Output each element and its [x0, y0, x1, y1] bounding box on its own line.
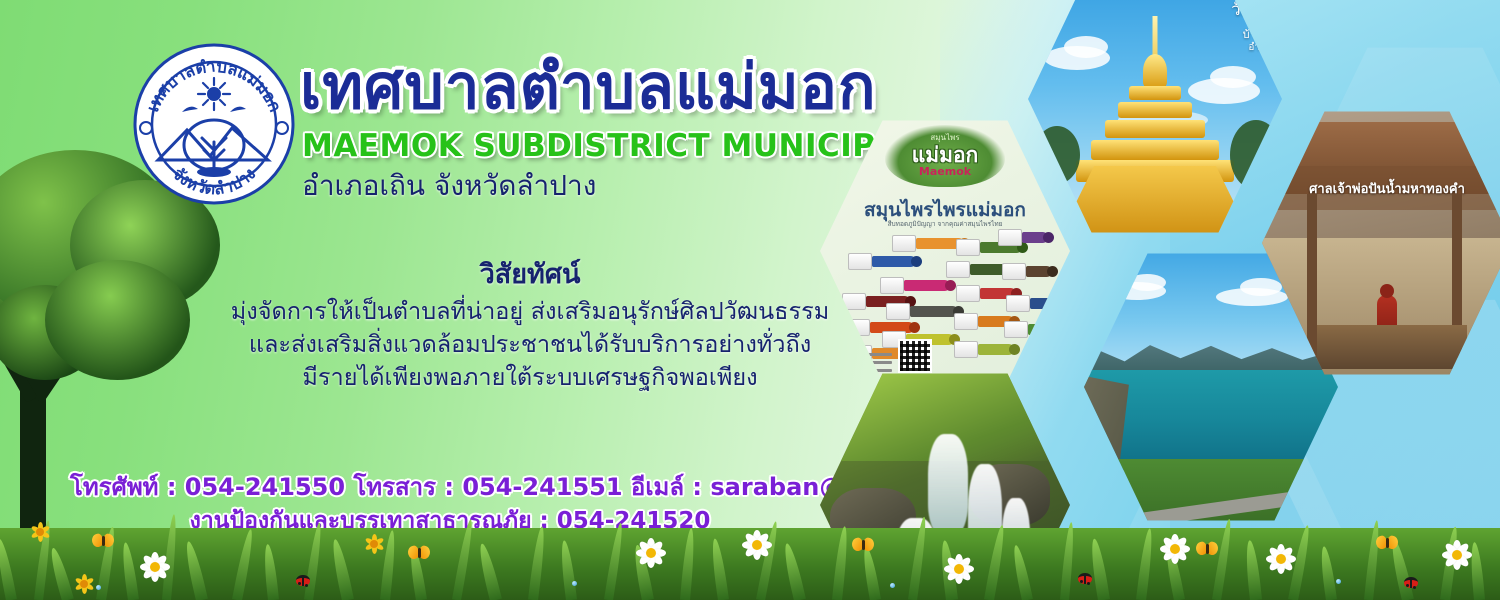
- cloud: [1210, 66, 1256, 88]
- ladybug: [296, 575, 310, 586]
- vision-statement: วิสัยทัศน์ มุ่งจัดการให้เป็นตำบลที่น่าอย…: [160, 258, 900, 395]
- page-subtitle-thai: อำเภอเถิน จังหวัดลำปาง: [302, 172, 596, 200]
- yellow-flower: [74, 574, 94, 594]
- daisy-flower: [1160, 534, 1190, 564]
- dew-drop: [572, 581, 577, 586]
- herb-product-item: [1002, 263, 1058, 280]
- vision-line-1: มุ่งจัดการให้เป็นตำบลที่น่าอยู่ ส่งเสริม…: [160, 295, 900, 328]
- herb-product-item: [880, 277, 956, 294]
- yellow-flower: [30, 522, 50, 542]
- herb-brand-logo: สมุนไพร แม่มอก Maemok: [885, 125, 1005, 187]
- shrine-sign-text: ศาลเจ้าพ่อปันน้ำมหาทองคำ: [1309, 178, 1465, 199]
- daisy-flower: [1442, 540, 1472, 570]
- dew-drop: [1336, 579, 1341, 584]
- daisy-flower: [636, 538, 666, 568]
- daisy-flower: [1266, 544, 1296, 574]
- herb-poster-subtitle: สืบทอดภูมิปัญญา จากคุณค่าสมุนไพรไทย: [820, 219, 1070, 229]
- pagoda-tier: [1105, 120, 1205, 138]
- dew-drop: [890, 583, 895, 588]
- qr-code: [898, 339, 932, 373]
- shrine-altar-table: [1317, 325, 1467, 369]
- pagoda-bell: [1143, 54, 1167, 88]
- pagoda-tier: [1091, 140, 1219, 160]
- dew-drop: [96, 585, 101, 590]
- herb-product-item: [886, 303, 964, 320]
- grass-border: [0, 495, 1500, 600]
- shrine-post: [1307, 194, 1317, 358]
- municipality-banner: เทศบาลตำบลแม่มอก จังหวัดลำปาง เทศบาลตำบล…: [0, 0, 1500, 600]
- cloud: [1240, 278, 1282, 296]
- pagoda-tier: [1129, 86, 1181, 100]
- herb-product-grid: [834, 235, 1060, 355]
- herb-product-item: [954, 341, 1020, 358]
- daisy-flower: [944, 554, 974, 584]
- herb-logo-script-text: Maemok: [919, 165, 971, 178]
- daisy-flower: [140, 552, 170, 582]
- butterfly: [1376, 536, 1398, 550]
- municipal-seal: เทศบาลตำบลแม่มอก จังหวัดลำปาง: [132, 42, 296, 206]
- vision-heading: วิสัยทัศน์: [160, 258, 900, 292]
- herb-product-item: [998, 229, 1054, 246]
- yellow-flower: [364, 534, 384, 554]
- butterfly: [852, 538, 874, 552]
- cloud: [1064, 36, 1108, 58]
- butterfly: [1196, 542, 1218, 556]
- page-title-thai: เทศบาลตำบลแม่มอก: [300, 56, 876, 118]
- pagoda-tier: [1118, 102, 1192, 118]
- ladybug: [1078, 573, 1092, 584]
- vision-line-3: มีรายได้เพียงพอภายใต้ระบบเศรษฐกิจพอเพียง: [160, 361, 900, 394]
- daisy-flower: [742, 530, 772, 560]
- butterfly: [92, 534, 114, 548]
- ladybug: [1404, 577, 1418, 588]
- butterfly: [408, 546, 430, 560]
- herb-product-item: [848, 253, 922, 270]
- vision-line-2: และส่งเสริมสิ่งแวดล้อมประชาชนได้รับบริกา…: [160, 328, 900, 361]
